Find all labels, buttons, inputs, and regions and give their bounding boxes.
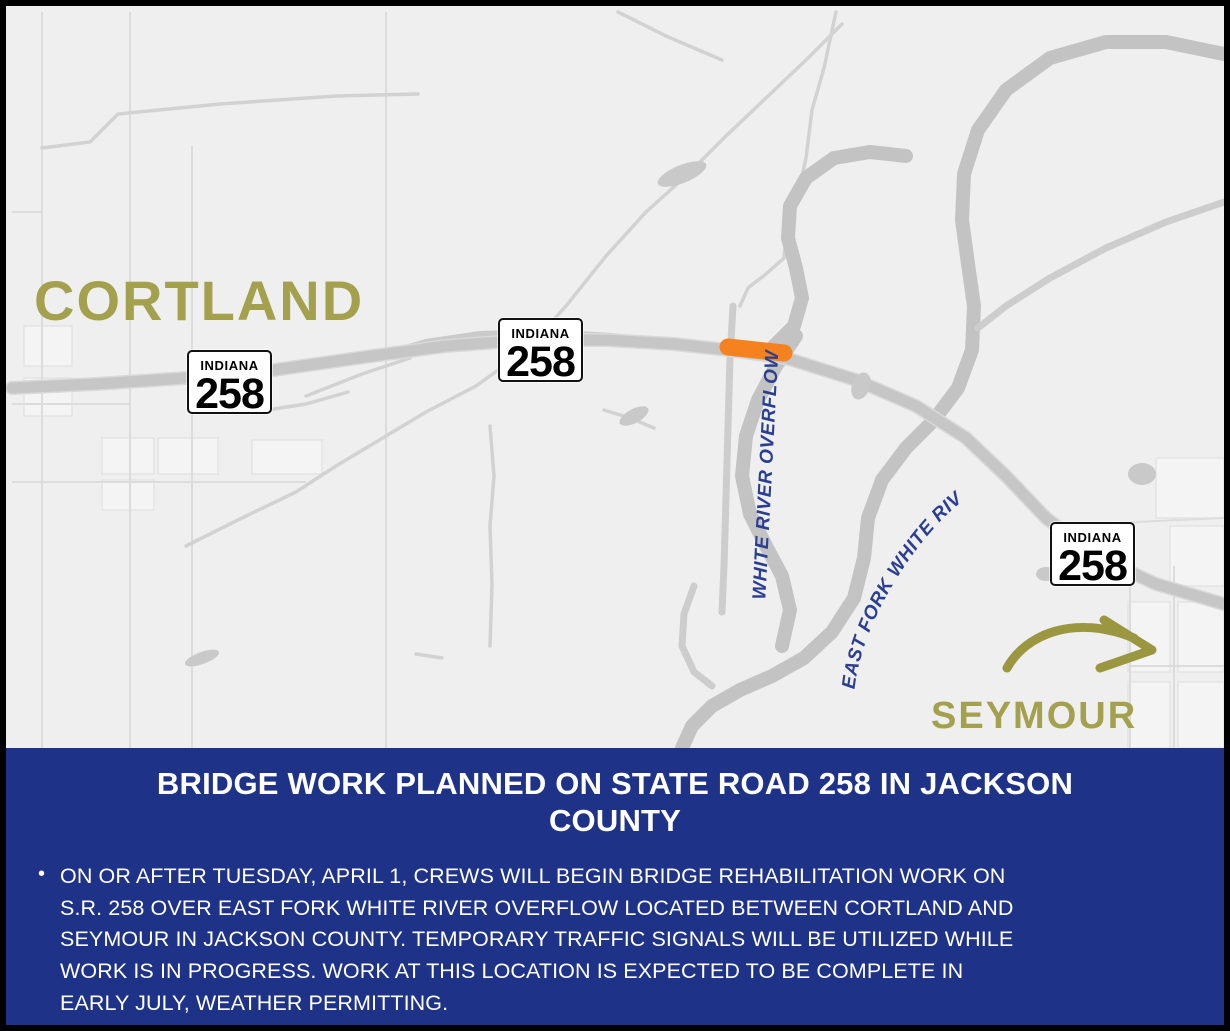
route-shield-number: 258 <box>1058 545 1127 587</box>
route-shield-258-west[interactable]: INDIANA 258 <box>187 350 272 414</box>
city-label-cortland-fill: CORTLAND <box>34 268 364 333</box>
banner-title: BRIDGE WORK PLANNED ON STATE ROAD 258 IN… <box>90 766 1140 839</box>
info-banner: BRIDGE WORK PLANNED ON STATE ROAD 258 IN… <box>6 748 1224 1025</box>
banner-bullet-item: ON OR AFTER TUESDAY, APRIL 1, CREWS WILL… <box>60 861 1035 1019</box>
route-shield-258-mid[interactable]: INDIANA 258 <box>498 318 583 382</box>
poster-root: .rd-minor{fill:none;stroke:#dcdcdc;strok… <box>0 0 1230 1031</box>
route-shield-number: 258 <box>195 373 264 415</box>
map-ponds <box>183 156 1156 670</box>
route-shield-number: 258 <box>506 341 575 383</box>
banner-bullet-list: ON OR AFTER TUESDAY, APRIL 1, CREWS WILL… <box>30 861 1200 1019</box>
route-shield-258-east[interactable]: INDIANA 258 <box>1050 522 1135 586</box>
map-canvas[interactable]: .rd-minor{fill:none;stroke:#dcdcdc;strok… <box>6 6 1224 748</box>
banner-body: ON OR AFTER TUESDAY, APRIL 1, CREWS WILL… <box>30 861 1200 1019</box>
city-label-seymour-fill: SEYMOUR <box>931 695 1137 738</box>
